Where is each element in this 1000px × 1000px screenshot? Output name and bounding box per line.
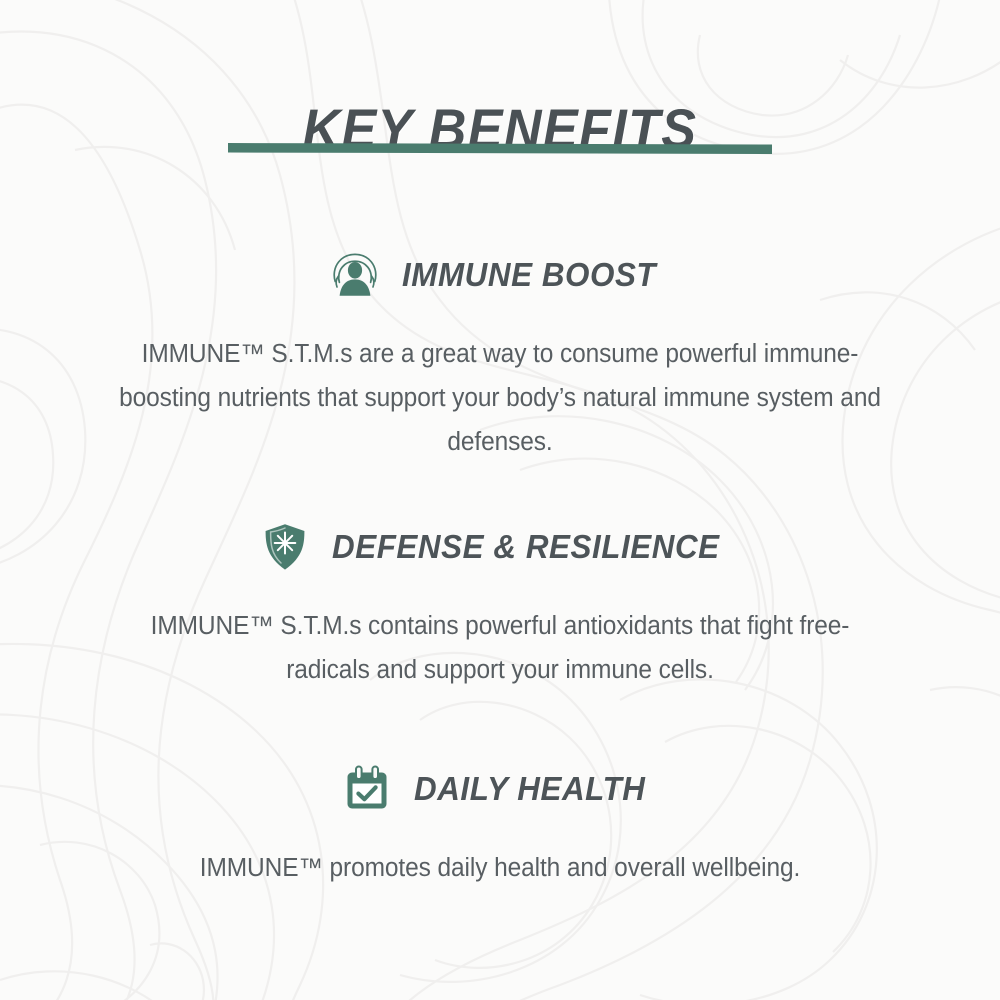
benefit-header: IMMUNE BOOST	[0, 246, 1000, 304]
calendar-check-icon	[342, 763, 392, 815]
benefit-title: DEFENSE & RESILIENCE	[332, 528, 720, 566]
benefit-description: IMMUNE™ S.T.M.s contains powerful antiox…	[116, 604, 884, 692]
benefit-block-daily-health: DAILY HEALTH IMMUNE™ promotes daily heal…	[0, 760, 1000, 890]
content-layer: KEY BENEFITS	[0, 0, 1000, 1000]
benefit-header: DAILY HEALTH	[0, 760, 1000, 818]
benefit-block-immune-boost: IMMUNE BOOST IMMUNE™ S.T.M.s are a great…	[0, 246, 1000, 464]
immune-person-shield-icon	[330, 249, 380, 301]
benefit-title: IMMUNE BOOST	[402, 256, 656, 294]
benefit-block-defense-resilience: DEFENSE & RESILIENCE IMMUNE™ S.T.M.s con…	[0, 518, 1000, 692]
shield-star-icon	[260, 521, 310, 573]
benefit-header: DEFENSE & RESILIENCE	[0, 518, 1000, 576]
benefit-description: IMMUNE™ S.T.M.s are a great way to consu…	[116, 332, 884, 464]
benefit-title: DAILY HEALTH	[414, 770, 646, 808]
title-underline-rule	[228, 143, 772, 154]
key-benefits-page: KEY BENEFITS	[0, 0, 1000, 1000]
benefit-description: IMMUNE™ promotes daily health and overal…	[97, 846, 903, 890]
